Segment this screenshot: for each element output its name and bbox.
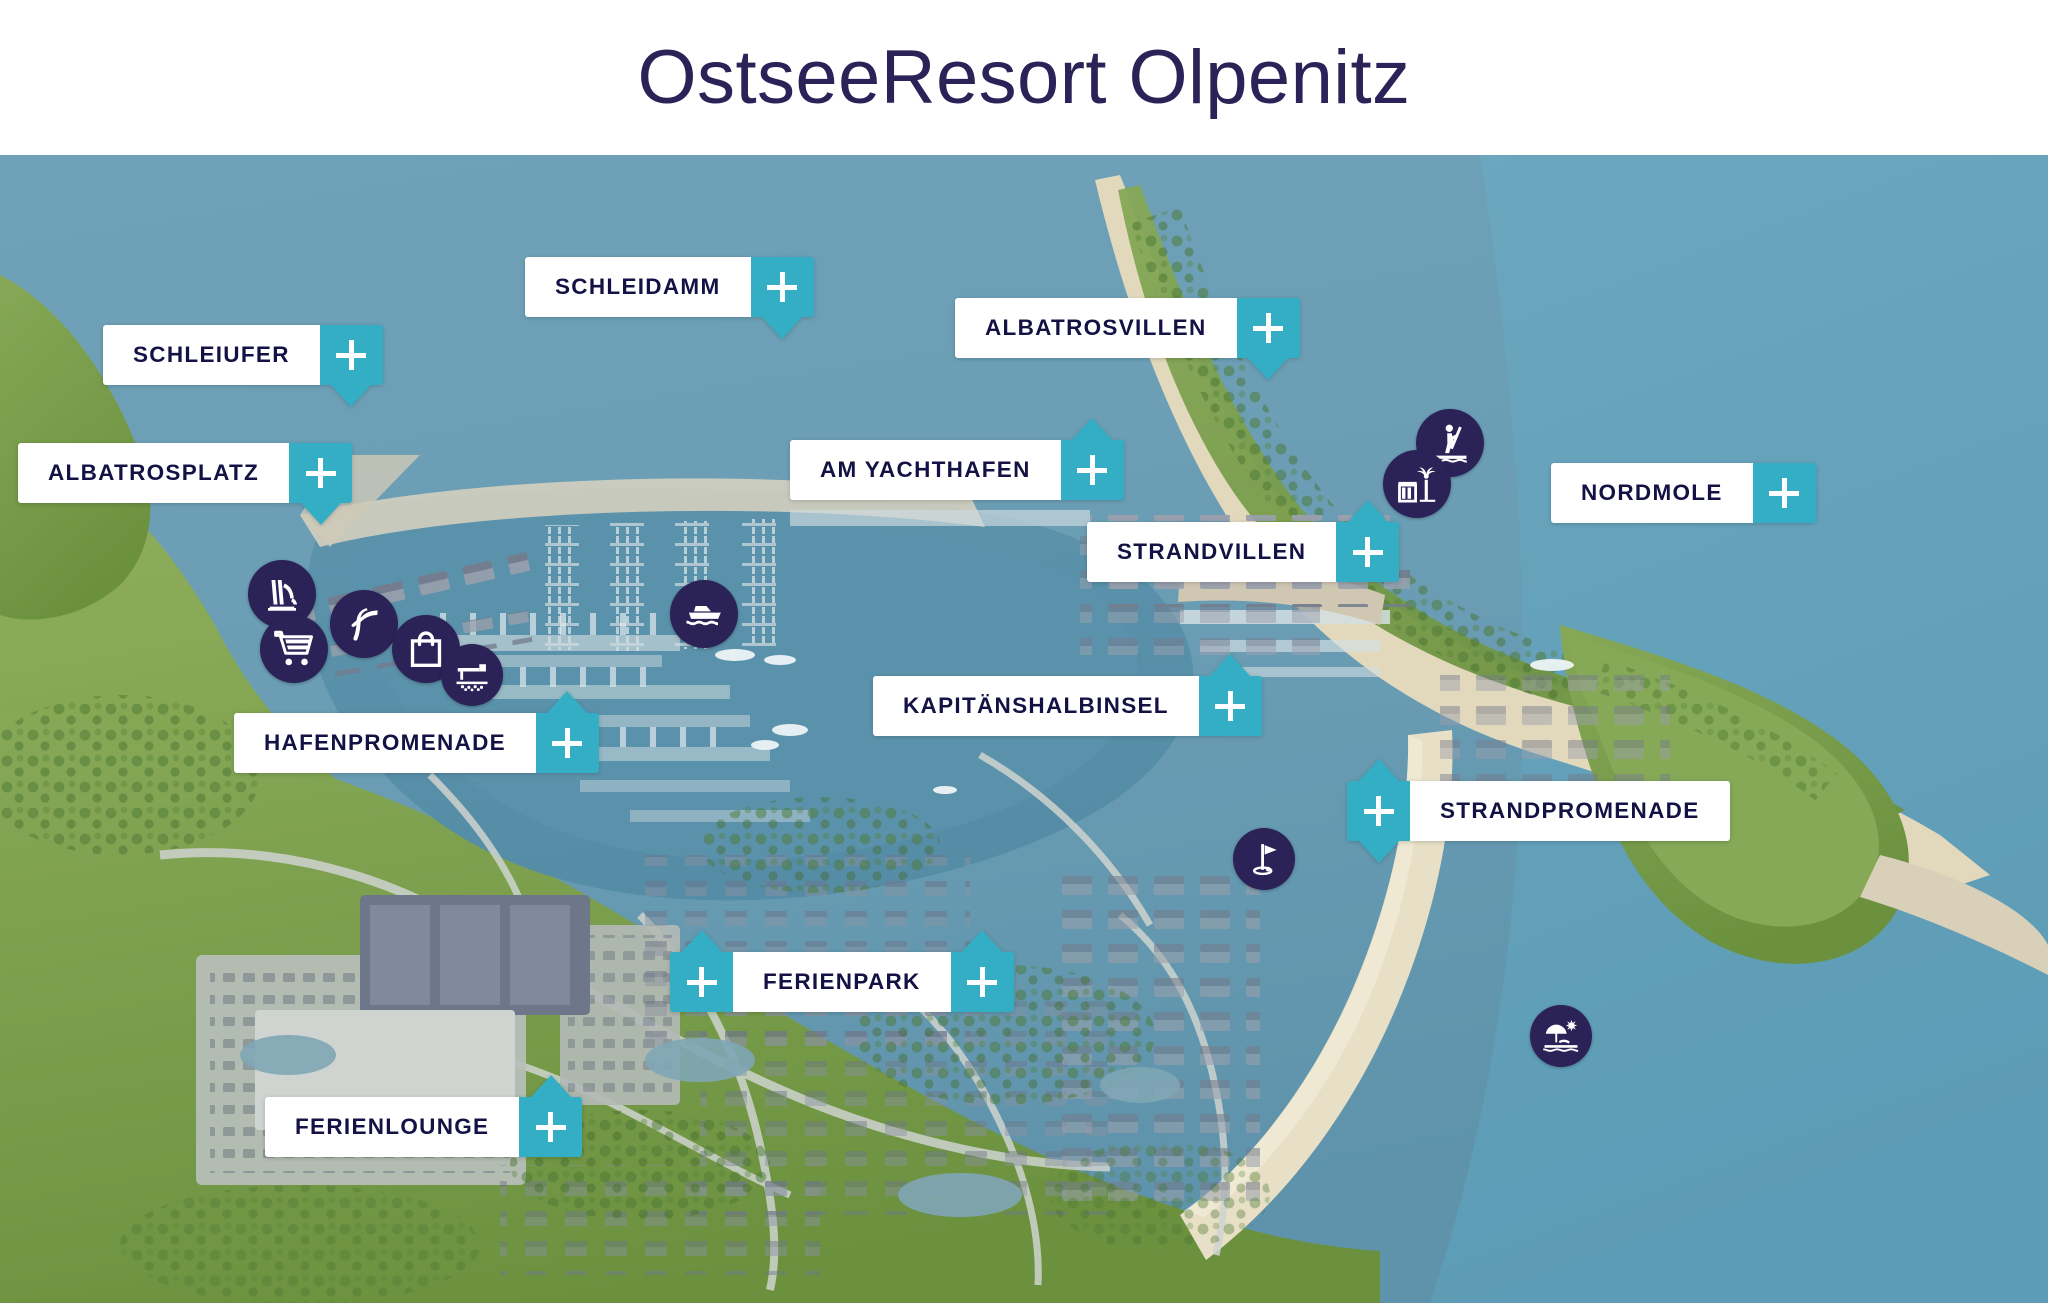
plus-icon — [336, 340, 366, 370]
hotspot-label-text: STRANDPROMENADE — [1440, 800, 1700, 823]
hotspot-chip-schleidamm[interactable]: SCHLEIDAMM — [525, 257, 814, 317]
poi-marker-shopping[interactable] — [260, 615, 328, 683]
poi-marker-yacht[interactable] — [670, 580, 738, 648]
pointer-triangle-up — [1347, 500, 1389, 523]
hotspot-label-text: AM YACHTHAFEN — [820, 459, 1031, 482]
motor-yacht-icon — [683, 593, 725, 635]
pointer-triangle-down — [1247, 357, 1289, 380]
shopping-cart-icon — [273, 628, 315, 670]
hotspot-chip-hafenpromenade[interactable]: HAFENPROMENADE — [234, 713, 599, 773]
pointer-triangle-down — [300, 502, 342, 525]
shopping-bag-icon — [405, 628, 447, 670]
plus-icon — [1769, 478, 1799, 508]
pointer-triangle-down — [1358, 840, 1400, 863]
expand-hotspot-button[interactable] — [1347, 781, 1410, 841]
expand-hotspot-button[interactable] — [1336, 522, 1399, 582]
poi-marker-golf[interactable] — [1233, 828, 1295, 890]
poi-marker-jetty[interactable] — [441, 644, 503, 706]
expand-hotspot-button[interactable] — [951, 952, 1014, 1012]
expand-hotspot-button[interactable] — [1237, 298, 1300, 358]
plus-icon — [1215, 691, 1245, 721]
hotspot-label-text: KAPITÄNSHALBINSEL — [903, 695, 1169, 718]
pointer-triangle-down — [761, 316, 803, 339]
poi-marker-beach[interactable] — [1530, 1005, 1592, 1067]
hotspot-chip-strandvillen[interactable]: STRANDVILLEN — [1087, 522, 1399, 582]
hotspot-label-text: ALBATROSPLATZ — [48, 462, 259, 485]
pointer-triangle-up — [961, 930, 1003, 953]
plus-icon — [767, 272, 797, 302]
hotspot-chip-am-yachthafen[interactable]: AM YACHTHAFEN — [790, 440, 1124, 500]
hotspot-chip-albatrosvillen[interactable]: ALBATROSVILLEN — [955, 298, 1300, 358]
hotspot-label-box[interactable]: STRANDVILLEN — [1087, 522, 1336, 582]
pointer-triangle-down — [330, 384, 372, 407]
expand-hotspot-button[interactable] — [289, 443, 352, 503]
expand-hotspot-button[interactable] — [536, 713, 599, 773]
hotspot-label-box[interactable]: ALBATROSVILLEN — [955, 298, 1237, 358]
plus-icon — [1077, 455, 1107, 485]
plus-icon — [552, 728, 582, 758]
plus-icon — [1364, 796, 1394, 826]
hotspot-label-text: FERIENPARK — [763, 971, 921, 994]
expand-hotspot-button[interactable] — [320, 325, 383, 385]
hotspot-chip-ferienpark[interactable]: FERIENPARK — [670, 952, 1014, 1012]
expand-hotspot-button[interactable] — [751, 257, 814, 317]
hotspot-chip-schleiufer[interactable]: SCHLEIUFER — [103, 325, 383, 385]
poi-marker-fitness[interactable] — [330, 590, 398, 658]
hotspot-label-box[interactable]: FERIENPARK — [733, 952, 951, 1012]
spa-palm-icon — [1396, 463, 1438, 505]
title-bar: OstseeResort Olpenitz — [0, 0, 2048, 155]
expand-hotspot-button[interactable] — [1199, 676, 1262, 736]
plus-icon — [687, 967, 717, 997]
hotspot-chip-ferienlounge[interactable]: FERIENLOUNGE — [265, 1097, 582, 1157]
plus-icon — [1253, 313, 1283, 343]
jetty-deck-icon — [453, 656, 491, 694]
hotspot-label-box[interactable]: SCHLEIDAMM — [525, 257, 751, 317]
hotspot-label-text: SCHLEIUFER — [133, 344, 290, 367]
hotspot-label-text: HAFENPROMENADE — [264, 732, 506, 755]
hotspot-label-box[interactable]: STRANDPROMENADE — [1410, 781, 1730, 841]
f-logo-icon — [343, 603, 385, 645]
hotspot-chip-kapitaenshalbinsel[interactable]: KAPITÄNSHALBINSEL — [873, 676, 1262, 736]
hotspot-label-box[interactable]: KAPITÄNSHALBINSEL — [873, 676, 1199, 736]
resort-map-page: OstseeResort Olpenitz — [0, 0, 2048, 1303]
page-title: OstseeResort Olpenitz — [638, 40, 1411, 116]
hotspot-chip-strandpromenade[interactable]: STRANDPROMENADE — [1347, 781, 1730, 841]
pointer-triangle-up — [1358, 759, 1400, 782]
resort-aerial-map[interactable]: SCHLEIDAMMSCHLEIUFERALBATROSVILLENALBATR… — [0, 155, 2048, 1303]
expand-hotspot-button[interactable] — [1753, 463, 1816, 523]
hotspot-label-text: SCHLEIDAMM — [555, 276, 721, 299]
hotspot-label-text: FERIENLOUNGE — [295, 1116, 489, 1139]
plus-icon — [1353, 537, 1383, 567]
beach-umbrella-icon — [1542, 1017, 1580, 1055]
pointer-triangle-up — [530, 1075, 572, 1098]
hotspot-chip-albatrosplatz[interactable]: ALBATROSPLATZ — [18, 443, 352, 503]
pointer-triangle-up — [681, 930, 723, 953]
hotspot-label-box[interactable]: NORDMOLE — [1551, 463, 1753, 523]
expand-hotspot-button[interactable] — [670, 952, 733, 1012]
plus-icon — [967, 967, 997, 997]
hotspot-label-text: NORDMOLE — [1581, 482, 1723, 505]
hotspot-label-box[interactable]: AM YACHTHAFEN — [790, 440, 1061, 500]
hotspot-label-text: STRANDVILLEN — [1117, 541, 1306, 564]
plus-icon — [306, 458, 336, 488]
hotspot-chip-nordmole[interactable]: NORDMOLE — [1551, 463, 1816, 523]
hotspot-label-box[interactable]: ALBATROSPLATZ — [18, 443, 289, 503]
pointer-triangle-up — [546, 691, 588, 714]
plus-icon — [536, 1112, 566, 1142]
pointer-triangle-up — [1071, 418, 1113, 441]
golf-flag-icon — [1245, 840, 1283, 878]
pointer-triangle-up — [1209, 654, 1251, 677]
expand-hotspot-button[interactable] — [1061, 440, 1124, 500]
hotspot-label-box[interactable]: HAFENPROMENADE — [234, 713, 536, 773]
poi-marker-spa[interactable] — [1383, 450, 1451, 518]
hotspot-label-box[interactable]: FERIENLOUNGE — [265, 1097, 519, 1157]
expand-hotspot-button[interactable] — [519, 1097, 582, 1157]
hotspot-label-box[interactable]: SCHLEIUFER — [103, 325, 320, 385]
hotspot-label-text: ALBATROSVILLEN — [985, 317, 1207, 340]
water-slide-icon — [261, 573, 303, 615]
